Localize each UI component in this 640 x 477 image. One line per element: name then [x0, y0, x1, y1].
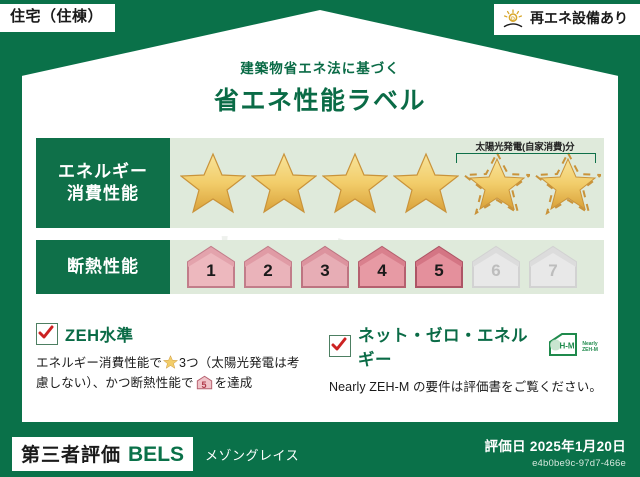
zeh-star-value: 3つ: [179, 356, 199, 370]
energy-row-label: エネルギー 消費性能: [36, 138, 170, 228]
nze-claim-header: ネット・ゼロ・エネルギー H-M Nearly ZEH-M: [329, 322, 604, 370]
checkbox-nze-checked: [329, 335, 351, 357]
zeh-claim-description: エネルギー消費性能で3つ（太陽光発電は考慮しない）、かつ断熱性能で5を達成: [36, 353, 311, 394]
inline-star-icon: [163, 355, 178, 369]
claim-net-zero-energy: ネット・ゼロ・エネルギー H-M Nearly ZEH-M Nearly ZEH…: [329, 322, 604, 397]
bels-logo-text: BELS: [128, 443, 184, 467]
zeh-claim-title: ZEH水準: [65, 322, 134, 346]
grade-number-2: 2: [241, 261, 295, 281]
property-name: メゾングレイス: [205, 445, 299, 464]
zeh-m-logo-icon: H-M Nearly ZEH-M: [546, 331, 604, 361]
insulation-grade-panel: 1 2 3: [170, 240, 604, 294]
bels-certification-box: 第三者評価 BELS: [12, 437, 193, 471]
solar-bracket: [456, 153, 596, 163]
third-party-label: 第三者評価: [21, 440, 121, 467]
insulation-grade-4: 4: [355, 243, 409, 291]
zeh-text-part3: を達成: [215, 376, 253, 390]
grade-number-1: 1: [184, 261, 238, 281]
solar-caption-text: 太陽光発電(自家消費)分: [452, 139, 598, 153]
nze-claim-title: ネット・ゼロ・エネルギー: [358, 322, 535, 370]
checkbox-zeh-checked: [36, 323, 58, 345]
grade-number-7: 7: [526, 261, 580, 281]
zeh-text-part1: エネルギー消費性能で: [36, 356, 162, 370]
evaluation-info: 評価日 2025年1月20日 e4b0be9c-97d7-466e: [484, 435, 626, 469]
building-type-text: 住宅（住棟）: [10, 8, 103, 25]
solar-generation-annotation: 太陽光発電(自家消費)分: [452, 138, 598, 228]
star-filled-2: [249, 141, 318, 225]
insulation-grade-7: 7: [526, 243, 580, 291]
grade-number-5: 5: [412, 261, 466, 281]
insulation-row-label: 断熱性能: [36, 240, 170, 294]
claim-zeh-standard: ZEH水準 エネルギー消費性能で3つ（太陽光発電は考慮しない）、かつ断熱性能で5…: [36, 322, 311, 397]
nze-claim-description: Nearly ZEH-M の要件は評価書をご覧ください。: [329, 377, 604, 397]
label-title-block: 建築物省エネ法に基づく 省エネ性能ラベル: [0, 57, 640, 117]
page-title: 省エネ性能ラベル: [0, 81, 640, 117]
insulation-grade-1: 1: [184, 243, 238, 291]
inline-house-grade-icon: 5: [196, 375, 213, 390]
insulation-performance-row: 断熱性能 1 2: [36, 240, 604, 294]
energy-consumption-row: エネルギー 消費性能: [36, 138, 604, 228]
renewable-badge-text: 再エネ設備あり: [530, 11, 628, 26]
star-filled-1: [178, 141, 247, 225]
insulation-grade-2: 2: [241, 243, 295, 291]
insulation-grade-group: 1 2 3: [184, 243, 580, 291]
grade-number-4: 4: [355, 261, 409, 281]
insulation-grade-5: 5: [412, 243, 466, 291]
logo-sub2: ZEH-M: [582, 347, 598, 353]
zeh-claim-header: ZEH水準: [36, 322, 311, 346]
certification-claims: ZEH水準 エネルギー消費性能で3つ（太陽光発電は考慮しない）、かつ断熱性能で5…: [36, 322, 604, 397]
energy-label-line2: 消費性能: [67, 183, 139, 205]
insulation-grade-6: 6: [469, 243, 523, 291]
title-subtitle: 建築物省エネ法に基づく: [0, 57, 640, 77]
insulation-label-text: 断熱性能: [67, 256, 139, 278]
energy-rating-panel: 太陽光発電(自家消費)分: [170, 138, 604, 228]
sun-icon: D: [502, 9, 524, 29]
label-footer: 第三者評価 BELS メゾングレイス 評価日 2025年1月20日 e4b0be…: [0, 429, 640, 477]
energy-performance-label: 住宅（住棟） D 再エネ設備あり 建築物省エネ法に基づく 省エネ性能ラベル ハウ…: [0, 0, 640, 477]
svg-text:D: D: [511, 16, 515, 22]
evaluation-date: 評価日 2025年1月20日: [484, 435, 626, 455]
building-type-tag: 住宅（住棟）: [0, 4, 115, 32]
renewable-energy-badge: D 再エネ設備あり: [494, 4, 640, 35]
grade-number-6: 6: [469, 261, 523, 281]
evaluation-id: e4b0be9c-97d7-466e: [484, 458, 626, 469]
star-filled-4: [391, 141, 460, 225]
star-filled-3: [320, 141, 389, 225]
grade-number-3: 3: [298, 261, 352, 281]
inline-house-number: 5: [196, 378, 213, 393]
energy-label-line1: エネルギー: [58, 161, 148, 183]
svg-text:H-M: H-M: [559, 342, 574, 351]
insulation-grade-3: 3: [298, 243, 352, 291]
